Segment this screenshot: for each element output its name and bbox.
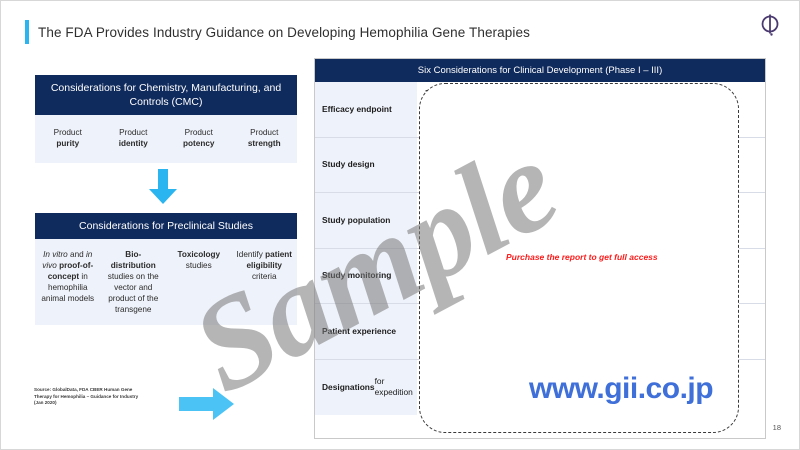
cmc-cell-lead: Product [54,128,82,137]
cmc-cell: Product identity [101,115,167,163]
preclinical-cell: Toxicology studies [166,239,232,325]
slide-title-bar: The FDA Provides Industry Guidance on De… [25,19,739,45]
clinical-table-header: Six Considerations for Clinical Developm… [315,59,765,82]
row-label: Study design [315,138,417,193]
row-label-bold: Study population [322,215,390,226]
title-accent-bar [25,20,29,44]
cmc-cell-strong: potency [183,139,214,148]
row-label-bold: Efficacy endpoint [322,104,392,115]
page-title: The FDA Provides Industry Guidance on De… [38,25,530,40]
cmc-table-body: Product purity Product identity Product … [35,115,297,163]
row-label: Study monitoring [315,249,417,304]
row-label-rest: for expedition [375,376,413,398]
row-label: Patient experience [315,304,417,359]
cmc-cell-lead: Product [250,128,278,137]
cmc-table-header: Considerations for Chemistry, Manufactur… [35,75,297,115]
down-arrow-icon [148,169,178,205]
cmc-cell: Product potency [166,115,232,163]
cmc-cell-strong: strength [248,139,281,148]
preclinical-cell: In vitro and in vivo proof-of-concept in… [35,239,101,325]
slide-canvas: The FDA Provides Industry Guidance on De… [0,0,800,450]
preclinical-table-header: Considerations for Preclinical Studies [35,213,297,239]
purchase-prompt: Purchase the report to get full access [506,252,658,262]
preclinical-cell: Identify patient eligibility criteria [232,239,298,325]
cmc-cell: Product strength [232,115,298,163]
right-arrow-icon [179,387,235,421]
site-watermark: www.gii.co.jp [529,372,713,406]
preclinical-cell: Bio-distribution studies on the vector a… [101,239,167,325]
row-label-bold: Designations [322,382,375,393]
cmc-cell-strong: identity [119,139,148,148]
cmc-cell: Product purity [35,115,101,163]
row-label: Study population [315,193,417,248]
row-label-bold: Study monitoring [322,270,391,281]
source-note: Source: GlobalData, FDA CBER Human Gene … [34,387,142,407]
row-label-bold: Patient experience [322,326,396,337]
page-number: 18 [773,423,781,432]
row-label: Designations for expedition [315,360,417,416]
row-label-bold: Study design [322,159,375,170]
cmc-cell-strong: purity [56,139,79,148]
preclinical-table-body: In vitro and in vivo proof-of-concept in… [35,239,297,325]
row-label: Efficacy endpoint [315,82,417,137]
globaldata-logo-icon [757,12,783,38]
cmc-cell-lead: Product [119,128,147,137]
cmc-cell-lead: Product [185,128,213,137]
